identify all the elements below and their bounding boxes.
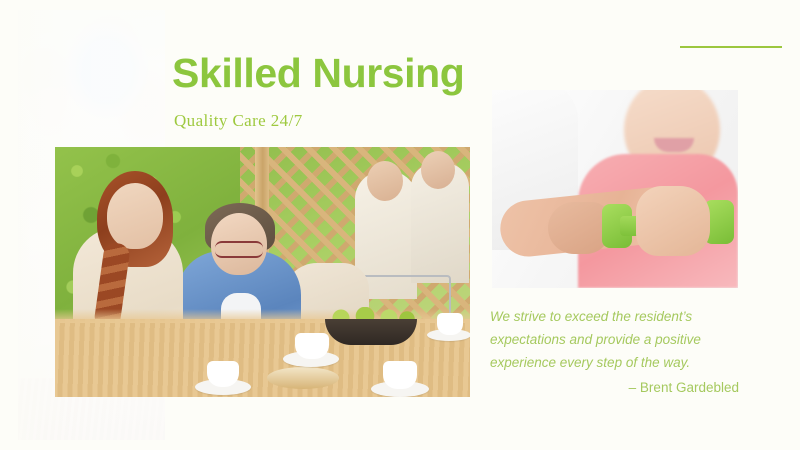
main-photo-caregiver-head: [107, 183, 163, 249]
main-photo: [55, 147, 470, 397]
main-photo-senior-woman-glasses: [215, 241, 263, 258]
testimonial-attribution: – Brent Gardebled: [490, 380, 739, 395]
main-photo-man-back-right-head: [421, 151, 455, 189]
main-photo-man-back-left-head: [367, 161, 403, 201]
page-title: Skilled Nursing: [172, 52, 464, 95]
accent-rule-icon: [680, 46, 782, 48]
main-photo-cup-right: [383, 361, 417, 389]
main-photo-cup-left: [207, 361, 239, 387]
main-photo-cup-centre: [295, 333, 329, 359]
slide-canvas: Skilled Nursing Quality Care 24/7: [0, 0, 800, 450]
therapy-photo-therapist-hand: [548, 202, 610, 254]
page-subtitle: Quality Care 24/7: [174, 111, 303, 131]
therapy-photo: [492, 90, 738, 288]
main-photo-tart: [267, 367, 339, 389]
main-photo-cup-far: [437, 313, 463, 335]
testimonial-quote: We strive to exceed the resident’s expec…: [490, 305, 745, 375]
main-photo-fruit-bowl: [325, 319, 417, 345]
therapy-photo-senior-hand: [636, 186, 710, 256]
